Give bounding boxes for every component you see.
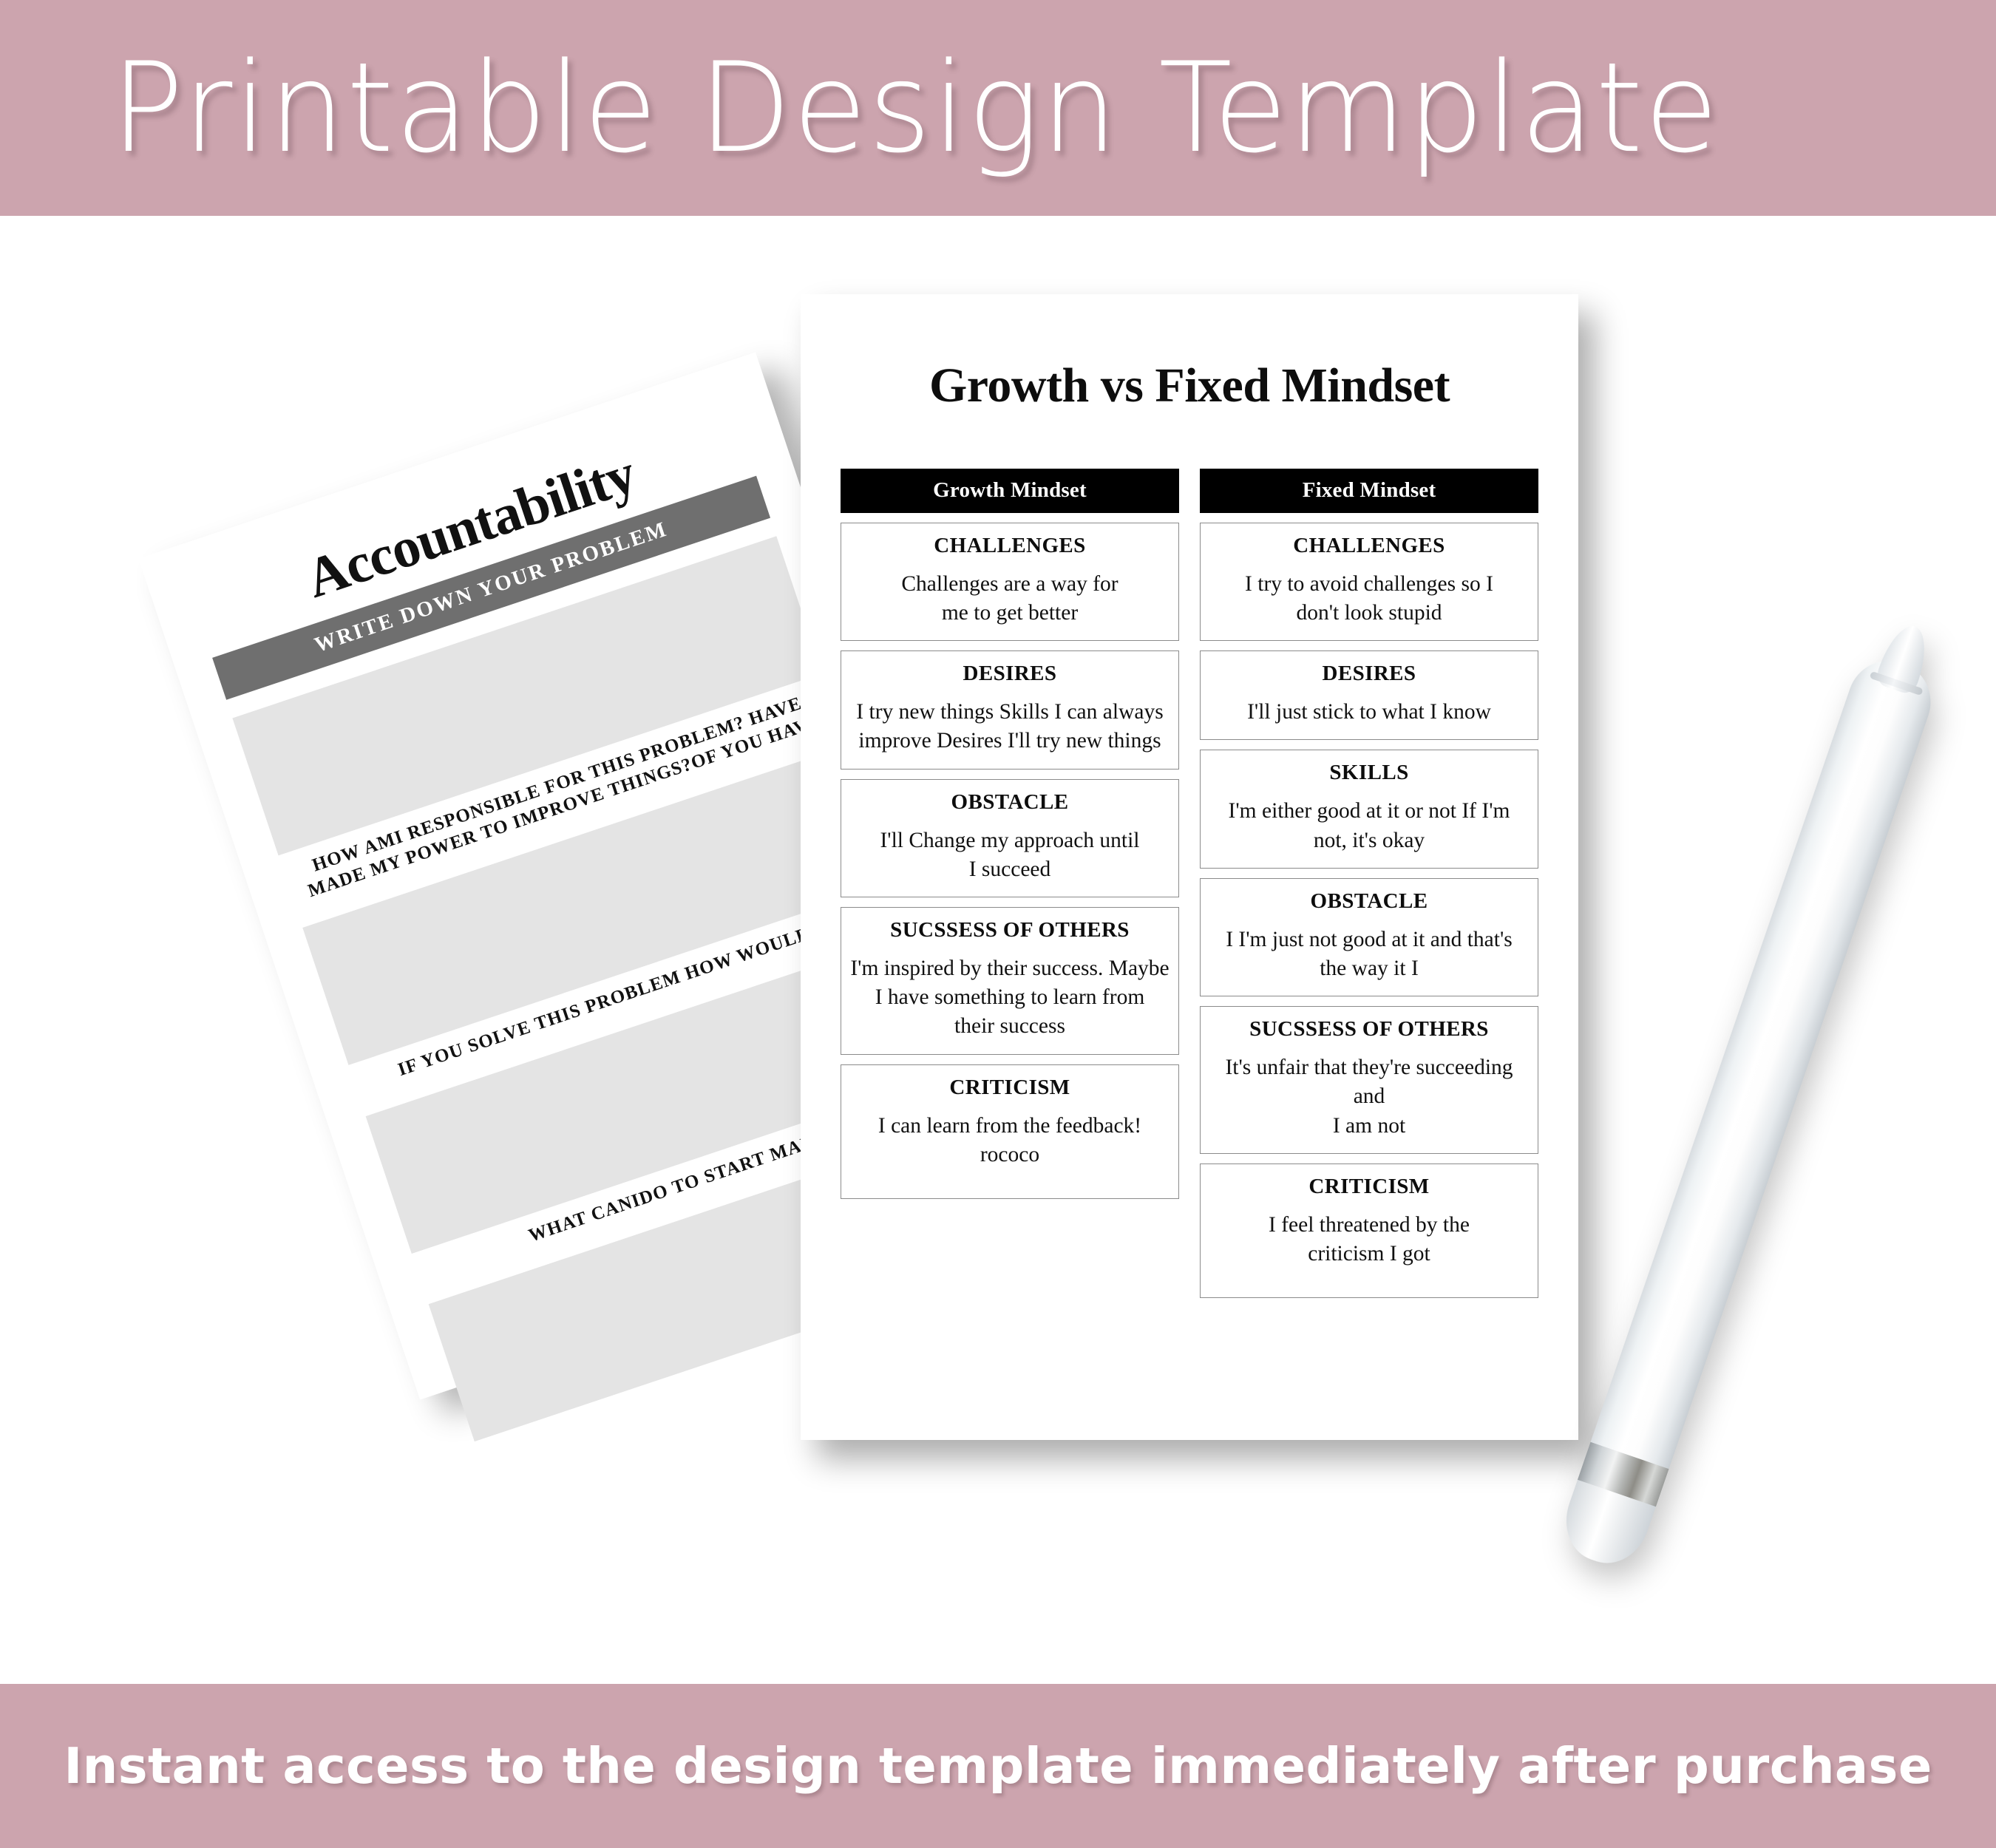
cell-growth-challenges: CHALLENGES Challenges are a way for me t… [841, 523, 1179, 641]
cell-label: OBSTACLE [1207, 890, 1531, 914]
cell-label: DESIRES [848, 662, 1172, 686]
column-fixed-mindset: Fixed Mindset CHALLENGES I try to avoid … [1200, 469, 1538, 1308]
cell-body: I try to avoid challenges so I don't loo… [1207, 570, 1531, 628]
cell-body: I'm inspired by their success. Maybe I h… [848, 954, 1172, 1042]
printable-template-listing-image: Printable Design Template Accountability… [0, 0, 1996, 1848]
cell-growth-criticism: CRITICISM I can learn from the feedback!… [841, 1064, 1179, 1199]
column-header-growth: Growth Mindset [841, 469, 1179, 513]
top-banner: Printable Design Template [0, 0, 1996, 216]
cell-label: CHALLENGES [1207, 534, 1531, 558]
cell-fixed-criticism: CRITICISM I feel threatened by the criti… [1200, 1164, 1538, 1298]
cell-body: I'll Change my approach until I succeed [848, 826, 1172, 884]
cell-label: CRITICISM [848, 1076, 1172, 1100]
cell-growth-obstacle: OBSTACLE I'll Change my approach until I… [841, 779, 1179, 897]
cell-body: I I'm just not good at it and that's the… [1207, 925, 1531, 983]
cell-body: Challenges are a way for me to get bette… [848, 570, 1172, 628]
cell-growth-sucssess-of-others: SUCSSESS OF OTHERS I'm inspired by their… [841, 907, 1179, 1055]
bottom-banner: Instant access to the design template im… [0, 1684, 1996, 1848]
cell-body: I'm either good at it or not If I'm not,… [1207, 797, 1531, 855]
cell-fixed-skills: SKILLS I'm either good at it or not If I… [1200, 750, 1538, 868]
cell-label: CHALLENGES [848, 534, 1172, 558]
cell-label: SUCSSESS OF OTHERS [1207, 1018, 1531, 1042]
cell-label: OBSTACLE [848, 791, 1172, 815]
column-growth-mindset: Growth Mindset CHALLENGES Challenges are… [841, 469, 1179, 1209]
cell-growth-desires: DESIRES I try new things Skills I can al… [841, 650, 1179, 769]
cell-body: I try new things Skills I can always imp… [848, 698, 1172, 755]
cell-body: I'll just stick to what I know [1207, 698, 1531, 727]
growth-vs-fixed-mindset-card: Growth vs Fixed Mindset Growth Mindset C… [801, 294, 1578, 1440]
stylus-body [1558, 650, 1941, 1564]
cell-label: SUCSSESS OF OTHERS [848, 919, 1172, 942]
stylus-pen-icon [1544, 613, 1954, 1604]
cell-fixed-obstacle: OBSTACLE I I'm just not good at it and t… [1200, 878, 1538, 996]
cell-fixed-sucssess-of-others: SUCSSESS OF OTHERS It's unfair that they… [1200, 1006, 1538, 1154]
cell-body: I can learn from the feedback! rococo [848, 1112, 1172, 1169]
page-title: Growth vs Fixed Mindset [841, 358, 1538, 414]
bottom-banner-text: Instant access to the design template im… [64, 1737, 1932, 1795]
cell-body: I feel threatened by the criticism I got [1207, 1211, 1531, 1268]
cell-label: DESIRES [1207, 662, 1531, 686]
column-header-fixed: Fixed Mindset [1200, 469, 1538, 513]
cell-body: It's unfair that they're succeeding and … [1207, 1053, 1531, 1141]
cell-label: SKILLS [1207, 761, 1531, 785]
cell-fixed-challenges: CHALLENGES I try to avoid challenges so … [1200, 523, 1538, 641]
cell-label: CRITICISM [1207, 1175, 1531, 1199]
top-banner-title: Printable Design Template [111, 46, 1720, 170]
cell-fixed-desires: DESIRES I'll just stick to what I know [1200, 650, 1538, 740]
mindset-columns: Growth Mindset CHALLENGES Challenges are… [841, 469, 1538, 1308]
